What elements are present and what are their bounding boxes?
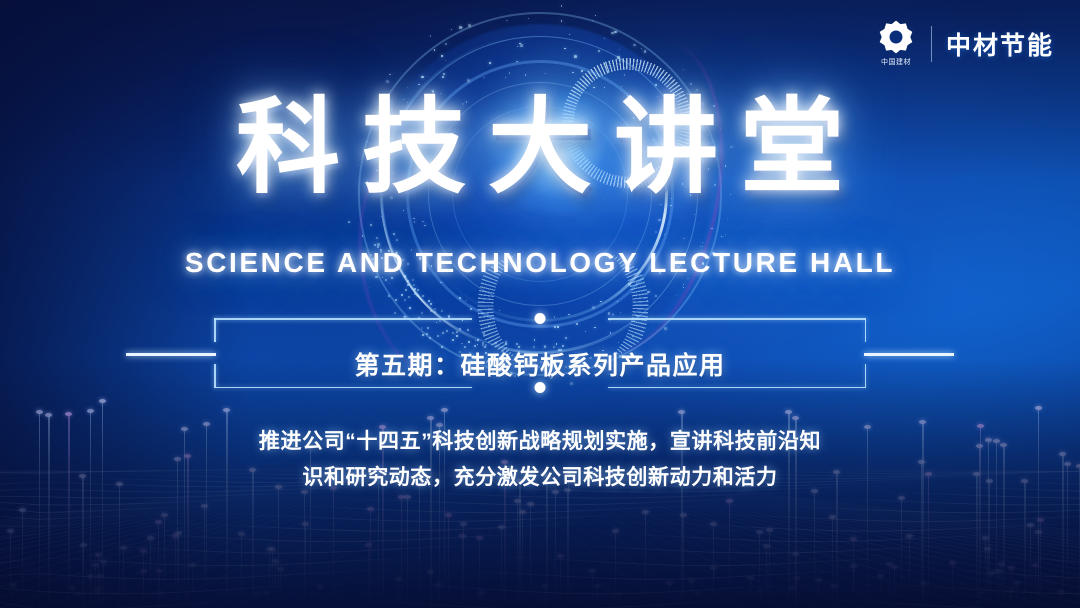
left-vignette: [0, 0, 250, 608]
frame-edge-right-top: [865, 318, 867, 342]
description-text: 推进公司“十四五”科技创新战略规划实施，宣讲科技前沿知 识和研究动态，充分激发公…: [0, 424, 1080, 496]
frame-edge-left-top: [214, 318, 216, 342]
brand-divider: [931, 26, 932, 62]
brand-lockup: 中国建材 中材节能: [875, 20, 1054, 67]
poster-canvas: 中国建材 中材节能 科技大讲堂 SCIENCE AND TECHNOLOGY L…: [0, 0, 1080, 608]
brand-logo-caption: 中国建材: [881, 57, 911, 67]
brand-company-name: 中材节能: [946, 26, 1054, 62]
frame-dot-top: [535, 313, 546, 324]
frame-edge-top-left: [214, 318, 472, 320]
cnbm-octagon-logo-icon: 中国建材: [875, 20, 917, 67]
cnbm-mark-svg: [879, 20, 913, 54]
frame-edge-top-right: [608, 318, 866, 320]
description-line-1: 推进公司“十四五”科技创新战略规划实施，宣讲科技前沿知: [0, 424, 1080, 460]
episode-title: 第五期：硅酸钙板系列产品应用: [0, 346, 1080, 382]
frame-dot-bottom: [535, 382, 546, 393]
frame-edge-bottom-left: [214, 387, 472, 389]
page-title: 科技大讲堂: [0, 96, 1080, 200]
page-subtitle-english: SCIENCE AND TECHNOLOGY LECTURE HALL: [0, 247, 1080, 279]
frame-edge-bottom-right: [608, 387, 866, 389]
description-line-2: 识和研究动态，充分激发公司科技创新动力和活力: [0, 460, 1080, 496]
